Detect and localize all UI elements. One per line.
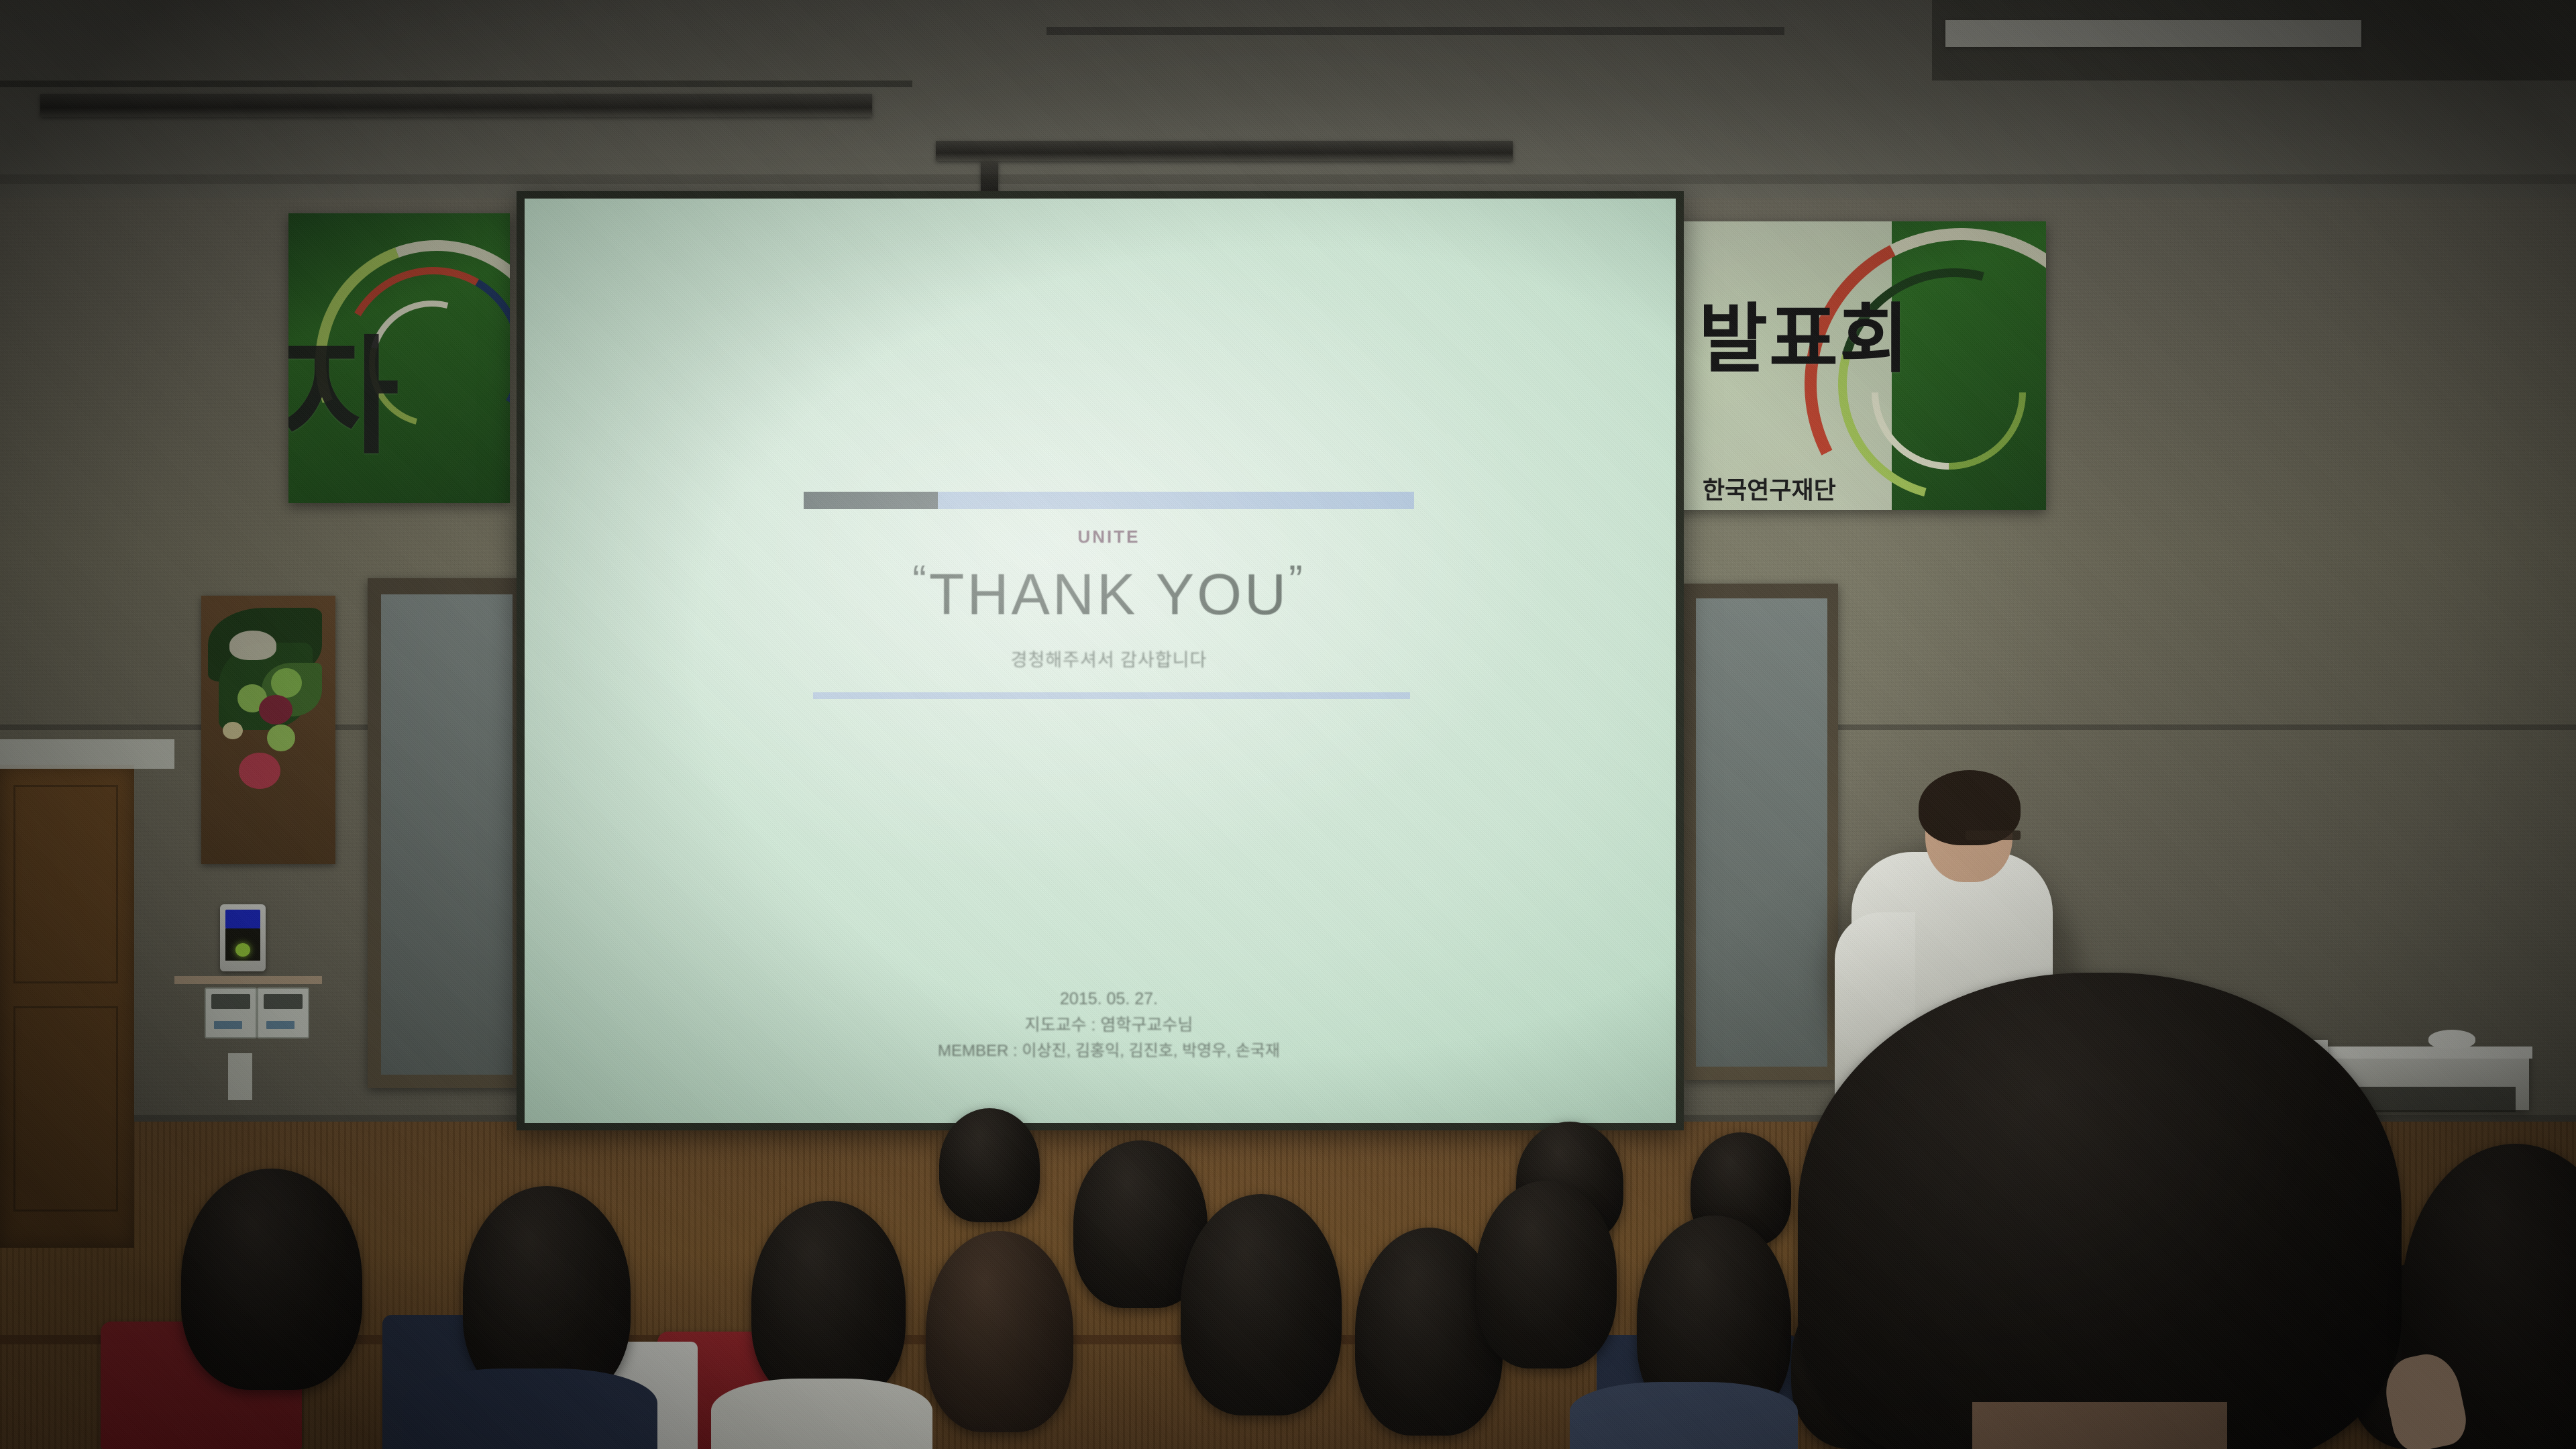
audience-head — [751, 1201, 906, 1402]
lecture-hall-photo: 자 발표회 한국연구재단 — [0, 0, 2576, 1449]
wreath-bloom-cream — [229, 631, 276, 660]
slide-footer-rule — [813, 692, 1410, 699]
light-switch-plate-right[interactable] — [257, 987, 309, 1038]
ceiling-light-fixture — [1945, 20, 2361, 47]
door-panel — [13, 785, 118, 983]
wall-conduit-strip — [228, 1053, 252, 1100]
wreath-bloom-green — [267, 724, 295, 751]
wreath-bloom-cream — [223, 722, 243, 739]
banner-right-headline: 발표회 — [1699, 302, 1910, 377]
blackboard-panel-left — [368, 578, 522, 1088]
door-panel — [13, 1006, 118, 1212]
audience-head — [1476, 1181, 1617, 1368]
banner-right-sponsor: 한국연구재단 — [1703, 471, 1836, 506]
podium-top-surface — [2318, 1046, 2532, 1059]
slide-members: MEMBER : 이상진, 김홍익, 김진호, 박영우, 손국재 — [804, 1038, 1414, 1063]
audience-shoulder — [711, 1379, 932, 1449]
ceiling-tile-seam — [0, 174, 2576, 184]
green-swirl-banner-right: 발표회 한국연구재단 — [1670, 221, 2046, 510]
side-door[interactable] — [0, 765, 134, 1248]
ceiling-light-fixture — [936, 141, 1513, 161]
ceiling-tile-seam — [0, 80, 912, 87]
audience-head — [1181, 1194, 1342, 1415]
slide-date: 2015. 05. 27. — [804, 986, 1414, 1012]
slide-footer-block: 2015. 05. 27. 지도교수 : 염학구교수님 MEMBER : 이상진… — [804, 986, 1414, 1063]
reader-status-led — [235, 943, 250, 957]
wall-flower-arrangement — [201, 596, 335, 864]
presenter-glasses — [1966, 830, 2021, 840]
audience-head — [181, 1169, 362, 1390]
wreath-bloom-green — [271, 668, 302, 698]
ceiling-tile-seam — [1046, 27, 1784, 35]
wreath-bloom-pink — [239, 753, 280, 789]
slide-quote-open: “ — [912, 557, 929, 604]
door-header-trim — [0, 739, 174, 769]
wreath-bloom-rose — [259, 695, 292, 724]
ceiling-light-fixture — [40, 94, 872, 117]
audience-head — [926, 1231, 1073, 1432]
reader-display-screen — [225, 910, 260, 928]
audience-shoulder — [402, 1368, 657, 1449]
blackboard-surface — [381, 594, 513, 1075]
foreground-audience-head — [1798, 973, 2402, 1449]
switch-rocker[interactable] — [264, 994, 303, 1009]
light-switch-plate-left[interactable] — [205, 987, 257, 1038]
slide-accent-bar-dark — [804, 492, 938, 509]
green-swirl-banner-left: 자 — [288, 213, 510, 503]
foreground-audience-neck — [1972, 1402, 2227, 1449]
wall-shelf-ledge — [174, 976, 322, 984]
blackboard-surface — [1696, 598, 1827, 1067]
switch-label-tag — [214, 1021, 242, 1029]
slide-quote-close: ” — [1289, 557, 1305, 604]
fingerprint-access-reader[interactable] — [220, 904, 266, 971]
slide-brand-label: UNITE — [804, 527, 1414, 547]
audience-head — [939, 1108, 1040, 1222]
slide-heading: “THANK YOU” — [804, 557, 1414, 629]
switch-rocker[interactable] — [211, 994, 250, 1009]
audience-shoulder — [1570, 1382, 1798, 1449]
blackboard-panel-right — [1684, 584, 1838, 1080]
slide-korean-subtitle: 경청해주셔서 감사합니다 — [804, 645, 1414, 672]
podium-paper-stack — [2428, 1030, 2475, 1049]
slide-advisor: 지도교수 : 염학구교수님 — [804, 1012, 1414, 1038]
banner-left-partial-text: 자 — [288, 294, 400, 478]
slide-heading-text: THANK YOU — [929, 563, 1289, 627]
switch-label-tag — [266, 1021, 294, 1029]
